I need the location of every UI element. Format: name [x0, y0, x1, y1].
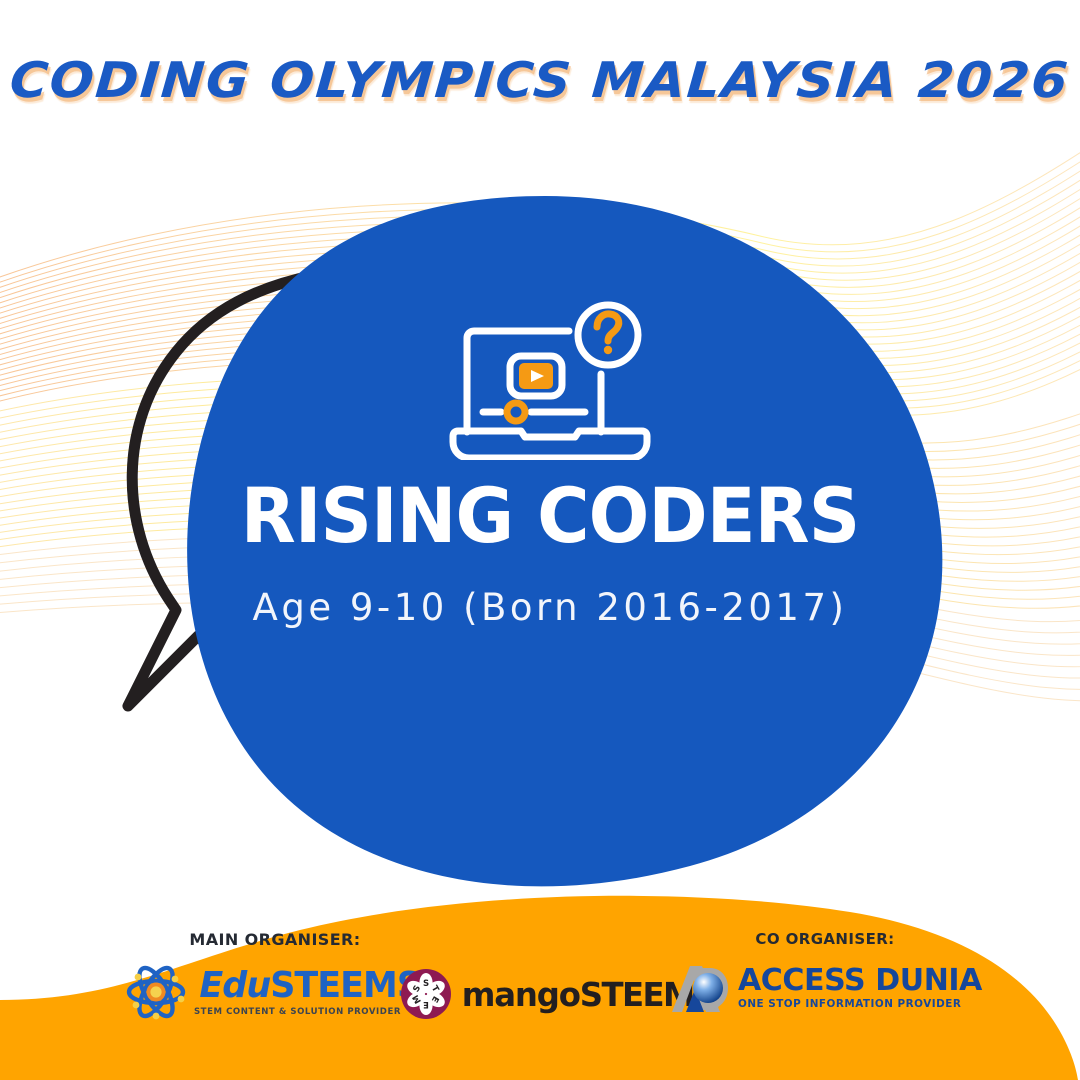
category-title: RISING CODERS: [221, 478, 879, 554]
age-range-label: Age 9-10 (Born 2016-2017): [200, 586, 900, 629]
flower-petal-badge-icon: S T E E M S: [400, 968, 452, 1020]
accessdunia-wordmark: ACCESS DUNIA ONE STOP INFORMATION PROVID…: [738, 966, 982, 1009]
edusteems-wordmark: EduSTEEMS STEM CONTENT & SOLUTION PROVID…: [196, 968, 424, 1015]
question-mark-dot: [604, 346, 612, 354]
accessdunia-name: ACCESS DUNIA: [738, 966, 982, 996]
question-mark-hook: [597, 314, 619, 341]
edusteems-logo[interactable]: EduSTEEMS STEM CONTENT & SOLUTION PROVID…: [125, 963, 424, 1021]
sphere: [693, 973, 723, 1003]
laptop-screen-left: [467, 331, 569, 432]
laptop-base: [453, 431, 647, 458]
svg-text:S: S: [423, 979, 429, 989]
edusteems-name: EduSTEEMS: [200, 968, 422, 1004]
edusteems-name-part1: Edu: [200, 965, 271, 1006]
progress-handle: [507, 403, 525, 421]
atom-icon: [125, 963, 187, 1021]
laptop-video-question-icon: [445, 300, 655, 460]
mangosteems-name-part1: mango: [461, 975, 579, 1014]
co-organiser-block: CO ORGANISER:: [610, 930, 1040, 1014]
accessdunia-tagline: ONE STOP INFORMATION PROVIDER: [738, 999, 961, 1009]
edusteems-name-part2: STEEMS: [271, 965, 422, 1006]
poster-canvas: CODING OLYMPICS MALAYSIA 2026 RISING COD…: [0, 0, 1080, 1080]
hero-content: RISING CODERS Age 9-10 (Born 2016-2017): [200, 300, 900, 720]
edusteems-tagline: STEM CONTENT & SOLUTION PROVIDER: [194, 1007, 401, 1015]
co-organiser-logos: ACCESS DUNIA ONE STOP INFORMATION PROVID…: [610, 962, 1040, 1014]
co-organiser-label: CO ORGANISER:: [610, 930, 1040, 948]
ad-monogram-icon: [668, 962, 730, 1014]
main-organiser-label: MAIN ORGANISER:: [60, 930, 490, 949]
footer: MAIN ORGANISER:: [0, 920, 1080, 1080]
accessdunia-logo[interactable]: ACCESS DUNIA ONE STOP INFORMATION PROVID…: [668, 962, 982, 1014]
